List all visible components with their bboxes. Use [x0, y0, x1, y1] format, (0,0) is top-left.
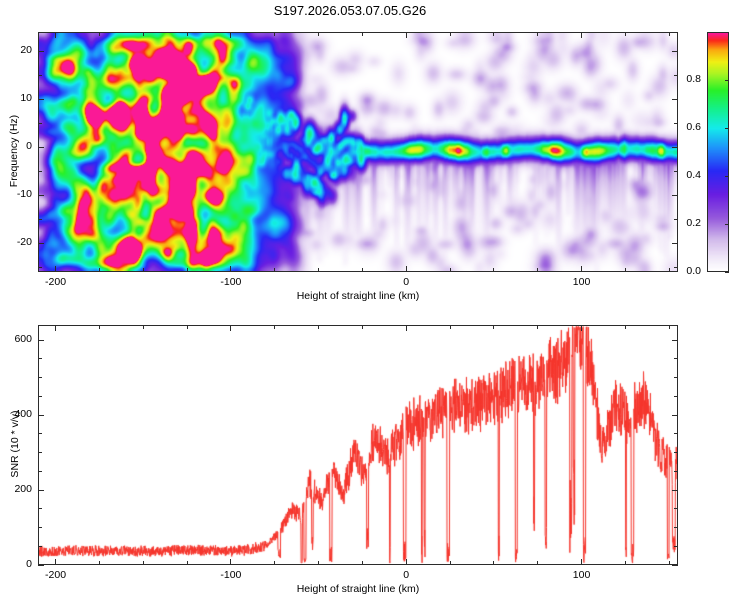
y-tick — [38, 340, 44, 341]
colorbar-tick-label: 0.8 — [667, 73, 701, 85]
x-tick — [187, 561, 188, 565]
x-tick-top — [537, 325, 538, 329]
x-tick — [318, 561, 319, 565]
x-tick — [625, 561, 626, 565]
x-tick — [187, 268, 188, 272]
x-tick — [99, 268, 100, 272]
y-tick — [38, 452, 42, 453]
y-tick-right — [672, 195, 678, 196]
y-tick — [38, 396, 42, 397]
x-tick-label: -100 — [203, 276, 259, 288]
x-tick-top — [493, 32, 494, 36]
colorbar-gradient — [708, 33, 728, 271]
y-tick — [38, 433, 42, 434]
x-tick — [450, 268, 451, 272]
x-tick-top — [143, 325, 144, 329]
y-tick — [38, 267, 42, 268]
y-tick-label: 600 — [0, 333, 32, 345]
y-tick — [38, 415, 44, 416]
y-tick — [38, 243, 44, 244]
snr-canvas — [39, 326, 677, 564]
y-tick-right — [672, 490, 678, 491]
colorbar-tick — [725, 80, 729, 81]
snr-ylabel: SNR (10 * v/v) — [9, 389, 21, 499]
x-tick — [493, 561, 494, 565]
x-tick — [625, 268, 626, 272]
y-tick-right — [672, 340, 678, 341]
x-tick — [318, 268, 319, 272]
x-tick-top — [581, 325, 582, 331]
spectrogram-ylabel: Frequency (Hz) — [8, 101, 20, 201]
x-tick-top — [669, 325, 670, 329]
colorbar-tick — [725, 128, 729, 129]
x-tick-top — [581, 32, 582, 38]
x-tick-top — [187, 325, 188, 329]
y-tick — [38, 377, 42, 378]
y-tick-right — [674, 546, 678, 547]
y-tick-label: -20 — [0, 236, 32, 248]
x-tick-label: 0 — [378, 569, 434, 581]
x-tick — [99, 561, 100, 565]
x-tick — [537, 268, 538, 272]
x-tick-top — [362, 325, 363, 329]
x-tick — [537, 561, 538, 565]
x-tick-top — [362, 32, 363, 36]
spectrogram-panel — [38, 32, 678, 272]
x-tick — [406, 559, 407, 565]
y-tick — [38, 219, 42, 220]
colorbar-tick — [725, 224, 729, 225]
y-tick — [38, 99, 44, 100]
y-tick-right — [672, 147, 678, 148]
spectrogram-xlabel: Height of straight line (km) — [0, 290, 716, 302]
x-tick-top — [274, 32, 275, 36]
x-tick-top — [55, 325, 56, 331]
y-tick-right — [674, 396, 678, 397]
y-tick-right — [672, 51, 678, 52]
x-tick-top — [99, 32, 100, 36]
y-tick-right — [674, 508, 678, 509]
y-tick — [38, 75, 42, 76]
y-tick-right — [672, 99, 678, 100]
x-tick — [55, 266, 56, 272]
x-tick — [274, 561, 275, 565]
figure-title: S197.2026.053.07.05.G26 — [0, 3, 700, 18]
x-tick-top — [187, 32, 188, 36]
x-tick-top — [55, 32, 56, 38]
y-tick — [38, 565, 44, 566]
y-tick — [38, 546, 42, 547]
y-tick — [38, 471, 42, 472]
x-tick — [581, 266, 582, 272]
x-tick — [581, 559, 582, 565]
x-tick-label: -200 — [28, 276, 84, 288]
x-tick-top — [318, 32, 319, 36]
y-tick — [38, 490, 44, 491]
y-tick-right — [674, 452, 678, 453]
x-tick-top — [99, 325, 100, 329]
x-tick-top — [537, 32, 538, 36]
colorbar-tick — [725, 272, 729, 273]
x-tick-top — [625, 32, 626, 36]
y-tick — [38, 527, 42, 528]
colorbar-tick-label: 0.2 — [667, 217, 701, 229]
y-tick — [38, 51, 44, 52]
y-tick-right — [674, 433, 678, 434]
x-tick-top — [230, 325, 231, 331]
y-tick — [38, 171, 42, 172]
x-tick — [362, 561, 363, 565]
y-tick — [38, 195, 44, 196]
x-tick-label: 100 — [554, 569, 610, 581]
colorbar-tick-label: 0.0 — [667, 265, 701, 277]
y-tick-right — [674, 527, 678, 528]
y-tick-right — [672, 565, 678, 566]
x-tick — [274, 268, 275, 272]
x-tick — [143, 268, 144, 272]
x-tick — [55, 559, 56, 565]
colorbar — [707, 32, 729, 272]
x-tick-top — [274, 325, 275, 329]
x-tick-top — [406, 325, 407, 331]
y-tick — [38, 123, 42, 124]
x-tick — [230, 266, 231, 272]
x-tick-top — [450, 325, 451, 329]
y-tick-right — [672, 415, 678, 416]
snr-xlabel: Height of straight line (km) — [0, 583, 716, 595]
figure-root: S197.2026.053.07.05.G26 -200-1000100-20-… — [0, 0, 750, 600]
y-tick-right — [674, 377, 678, 378]
x-tick-top — [493, 325, 494, 329]
x-tick-label: 0 — [378, 276, 434, 288]
spectrogram-canvas — [39, 33, 677, 271]
x-tick — [143, 561, 144, 565]
x-tick-label: -100 — [203, 569, 259, 581]
x-tick-top — [625, 325, 626, 329]
x-tick — [450, 561, 451, 565]
colorbar-tick-label: 0.6 — [667, 121, 701, 133]
y-tick — [38, 508, 42, 509]
x-tick-top — [143, 32, 144, 36]
x-tick-top — [318, 325, 319, 329]
y-tick — [38, 147, 44, 148]
x-tick — [406, 266, 407, 272]
y-tick — [38, 358, 42, 359]
y-tick-right — [672, 243, 678, 244]
snr-panel — [38, 325, 678, 565]
x-tick-label: -200 — [28, 569, 84, 581]
y-tick-label: 0 — [0, 558, 32, 570]
y-tick-right — [674, 358, 678, 359]
x-tick — [669, 561, 670, 565]
x-tick-label: 100 — [554, 276, 610, 288]
x-tick-top — [406, 32, 407, 38]
y-tick-label: 20 — [0, 44, 32, 56]
x-tick-top — [669, 32, 670, 36]
x-tick-top — [230, 32, 231, 38]
colorbar-tick — [725, 176, 729, 177]
x-tick — [230, 559, 231, 565]
x-tick-top — [450, 32, 451, 36]
x-tick — [493, 268, 494, 272]
x-tick — [362, 268, 363, 272]
y-tick-right — [674, 471, 678, 472]
colorbar-tick-label: 0.4 — [667, 169, 701, 181]
